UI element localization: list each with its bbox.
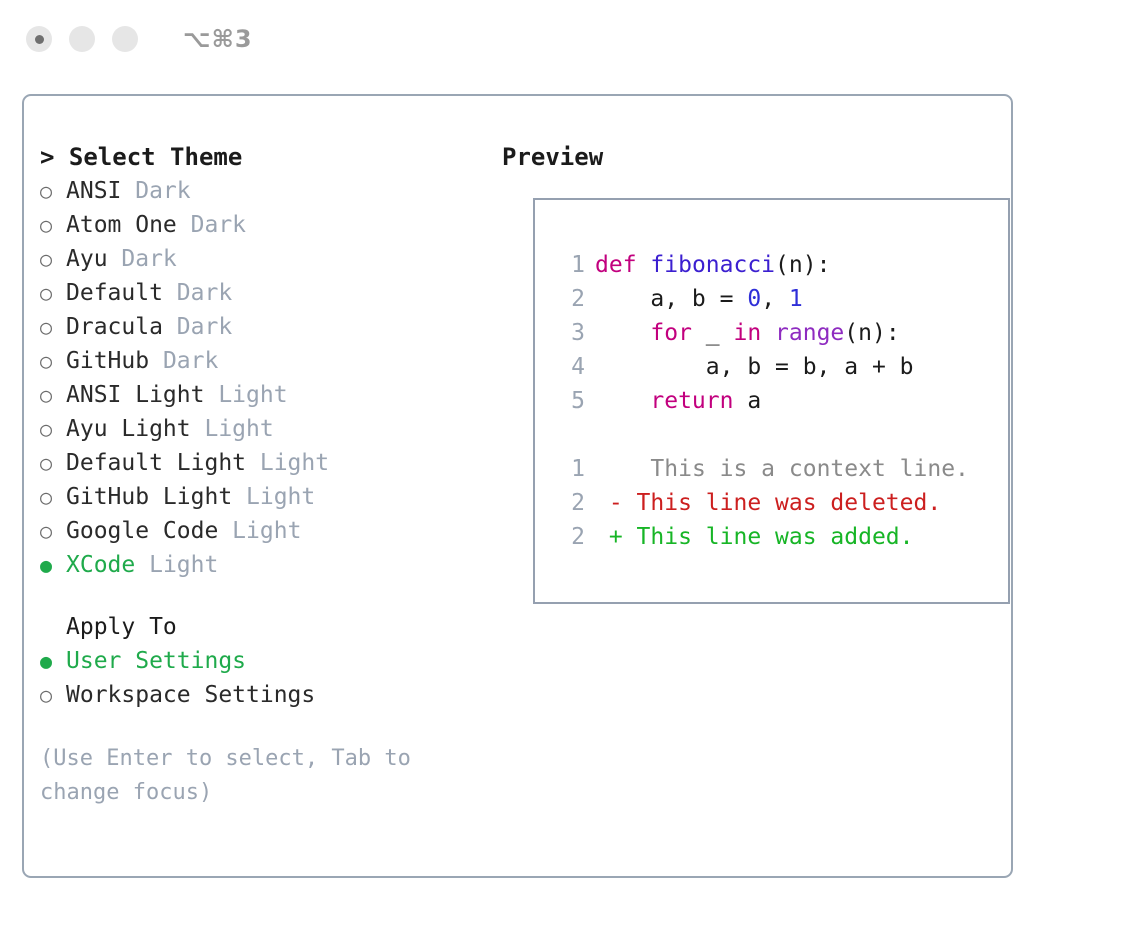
diff-marker: -: [595, 486, 623, 520]
preview-panel: Preview 1def fibonacci(n):2 a, b = 0, 13…: [502, 140, 992, 174]
code-token: _: [692, 320, 734, 346]
theme-option-label: Atom One: [66, 208, 177, 242]
select-theme-header: > Select Theme: [40, 140, 480, 174]
hint-spacer: [40, 712, 480, 742]
line-number: 1: [555, 248, 585, 282]
apply-to-option-label: User Settings: [66, 644, 246, 678]
line-number: 2: [555, 520, 585, 554]
line-number: 4: [555, 350, 585, 384]
line-number: 2: [555, 282, 585, 316]
apply-to-header: Apply To: [40, 610, 480, 644]
radio-unselected-icon: ○: [40, 678, 66, 712]
code-token: [637, 252, 651, 278]
window-titlebar: ⌥⌘3: [0, 0, 1140, 78]
line-number: 1: [555, 452, 585, 486]
radio-unselected-icon: ○: [40, 208, 66, 242]
diff-line-text: This line was added.: [623, 520, 914, 554]
code-token: 1: [789, 286, 803, 312]
window-dot-active-inner: [35, 35, 44, 44]
code-token: (n):: [775, 252, 830, 278]
radio-unselected-icon: ○: [40, 174, 66, 208]
preview-box: 1def fibonacci(n):2 a, b = 0, 13 for _ i…: [533, 198, 1010, 604]
radio-unselected-icon: ○: [40, 412, 66, 446]
theme-option-variant: Light: [218, 514, 301, 548]
radio-unselected-icon: ○: [40, 242, 66, 276]
theme-option-default-light[interactable]: ○Default Light Light: [40, 446, 480, 480]
theme-option-atom-one[interactable]: ○Atom One Dark: [40, 208, 480, 242]
theme-option-variant: Dark: [121, 174, 190, 208]
theme-option-ayu[interactable]: ○Ayu Dark: [40, 242, 480, 276]
radio-unselected-icon: ○: [40, 446, 66, 480]
theme-option-variant: Dark: [108, 242, 177, 276]
window-controls: [26, 26, 138, 52]
code-line-text: a, b = b, a + b: [595, 350, 914, 384]
code-line-text: def fibonacci(n):: [595, 248, 830, 282]
code-token: a, b =: [595, 286, 747, 312]
code-line: 4 a, b = b, a + b: [555, 350, 969, 384]
code-token: (n):: [844, 320, 899, 346]
theme-option-xcode[interactable]: ●XCode Light: [40, 548, 480, 582]
apply-to-option-workspace-settings[interactable]: ○Workspace Settings: [40, 678, 480, 712]
window-dot-second[interactable]: [69, 26, 95, 52]
code-blank-line: [555, 418, 969, 452]
diff-line-add: 2 + This line was added.: [555, 520, 969, 554]
preview-header: Preview: [502, 140, 992, 174]
theme-option-variant: Light: [232, 480, 315, 514]
code-token: a: [733, 388, 761, 414]
code-line: 1def fibonacci(n):: [555, 248, 969, 282]
line-number: 5: [555, 384, 585, 418]
theme-selector-panel: > Select Theme ○ANSI Dark○Atom One Dark○…: [40, 140, 480, 810]
code-line: 5 return a: [555, 384, 969, 418]
keyboard-shortcut-label: ⌥⌘3: [183, 25, 253, 53]
code-token: fibonacci: [650, 252, 775, 278]
code-line: 3 for _ in range(n):: [555, 316, 969, 350]
theme-option-ansi-light[interactable]: ○ANSI Light Light: [40, 378, 480, 412]
theme-option-label: Default Light: [66, 446, 246, 480]
theme-option-variant: Light: [135, 548, 218, 582]
code-token: in: [733, 320, 761, 346]
code-line-text: for _ in range(n):: [595, 316, 900, 350]
theme-option-label: Ayu Light: [66, 412, 191, 446]
theme-option-dracula[interactable]: ○Dracula Dark: [40, 310, 480, 344]
theme-option-github-light[interactable]: ○GitHub Light Light: [40, 480, 480, 514]
section-spacer: [40, 582, 480, 610]
theme-option-label: Google Code: [66, 514, 218, 548]
theme-option-label: Dracula: [66, 310, 163, 344]
theme-option-variant: Dark: [163, 276, 232, 310]
apply-to-list[interactable]: ●User Settings○Workspace Settings: [40, 644, 480, 712]
apply-to-option-user-settings[interactable]: ●User Settings: [40, 644, 480, 678]
code-token: a, b = b, a + b: [595, 354, 914, 380]
apply-to-option-label: Workspace Settings: [66, 678, 315, 712]
theme-option-label: XCode: [66, 548, 135, 582]
code-line-text: return a: [595, 384, 761, 418]
theme-option-label: GitHub: [66, 344, 149, 378]
diff-line-text: This is a context line.: [623, 452, 969, 486]
line-number: 2: [555, 486, 585, 520]
code-token: ,: [761, 286, 789, 312]
window-dot-active[interactable]: [26, 26, 52, 52]
diff-line-ctx: 1 This is a context line.: [555, 452, 969, 486]
diff-marker: +: [595, 520, 623, 554]
line-number: 3: [555, 316, 585, 350]
diff-line-text: This line was deleted.: [623, 486, 942, 520]
radio-unselected-icon: ○: [40, 514, 66, 548]
radio-unselected-icon: ○: [40, 344, 66, 378]
code-line-text: a, b = 0, 1: [595, 282, 803, 316]
code-token: def: [595, 252, 637, 278]
theme-option-label: Ayu: [66, 242, 108, 276]
code-preview: 1def fibonacci(n):2 a, b = 0, 13 for _ i…: [555, 248, 969, 554]
theme-option-label: ANSI Light: [66, 378, 204, 412]
theme-option-label: ANSI: [66, 174, 121, 208]
theme-option-ayu-light[interactable]: ○Ayu Light Light: [40, 412, 480, 446]
theme-option-variant: Light: [191, 412, 274, 446]
diff-marker: [595, 452, 623, 486]
theme-option-variant: Dark: [163, 310, 232, 344]
code-token: [595, 388, 650, 414]
code-token: return: [650, 388, 733, 414]
theme-option-label: GitHub Light: [66, 480, 232, 514]
theme-option-variant: Light: [246, 446, 329, 480]
theme-option-label: Default: [66, 276, 163, 310]
radio-unselected-icon: ○: [40, 480, 66, 514]
radio-selected-icon: ●: [40, 644, 66, 678]
code-line: 2 a, b = 0, 1: [555, 282, 969, 316]
window-dot-third[interactable]: [112, 26, 138, 52]
diff-line-del: 2 - This line was deleted.: [555, 486, 969, 520]
theme-option-variant: Dark: [149, 344, 218, 378]
keyboard-hint-text: (Use Enter to select, Tab to change focu…: [40, 742, 440, 810]
radio-selected-icon: ●: [40, 548, 66, 582]
code-token: 0: [747, 286, 761, 312]
radio-unselected-icon: ○: [40, 378, 66, 412]
theme-option-ansi[interactable]: ○ANSI Dark: [40, 174, 480, 208]
theme-option-variant: Dark: [177, 208, 246, 242]
radio-unselected-icon: ○: [40, 310, 66, 344]
main-card: > Select Theme ○ANSI Dark○Atom One Dark○…: [22, 94, 1013, 878]
code-token: [761, 320, 775, 346]
code-token: range: [775, 320, 844, 346]
code-token: [595, 320, 650, 346]
theme-option-google-code[interactable]: ○Google Code Light: [40, 514, 480, 548]
theme-option-variant: Light: [204, 378, 287, 412]
radio-unselected-icon: ○: [40, 276, 66, 310]
theme-list[interactable]: ○ANSI Dark○Atom One Dark○Ayu Dark○Defaul…: [40, 174, 480, 582]
theme-option-github[interactable]: ○GitHub Dark: [40, 344, 480, 378]
theme-option-default[interactable]: ○Default Dark: [40, 276, 480, 310]
code-token: for: [650, 320, 692, 346]
